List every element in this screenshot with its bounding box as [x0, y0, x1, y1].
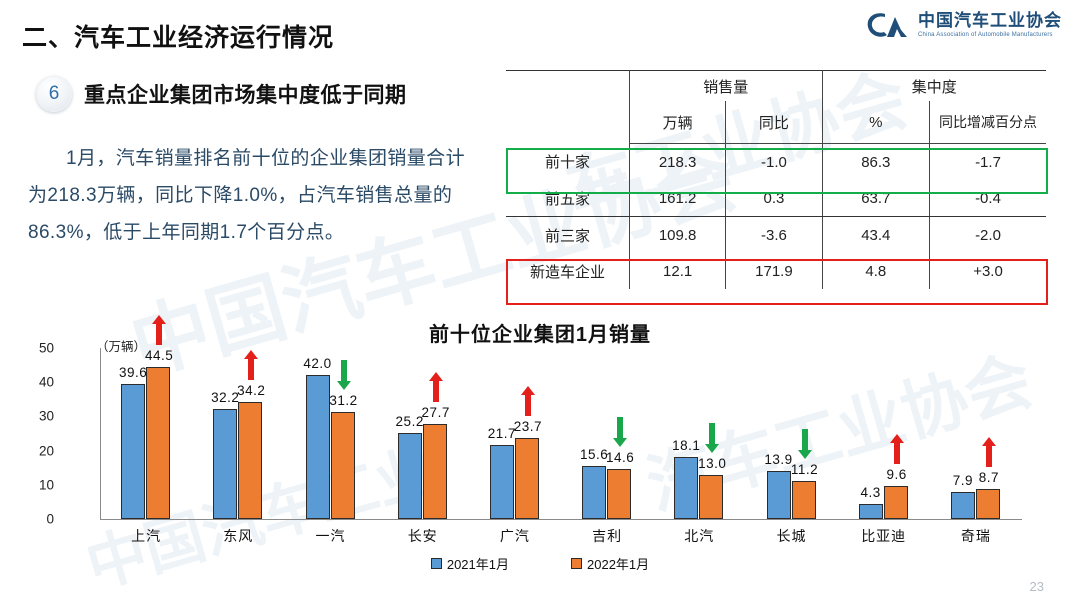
bar-value-label-2022: 23.7: [514, 419, 542, 434]
concentration-table: 销售量 集中度 万辆 同比 % 同比增减百分点 前十家 218.3 -1.0 8…: [506, 70, 1046, 289]
body-paragraph: 1月，汽车销量排名前十位的企业集团销量合计为218.3万辆，同比下降1.0%，占…: [28, 140, 480, 251]
cell-yoy: -3.6: [726, 217, 822, 254]
cell-share-pp: -0.4: [930, 180, 1047, 217]
cell-volume: 12.1: [629, 253, 725, 289]
cell-volume: 109.8: [629, 217, 725, 254]
chart-x-label: 吉利: [592, 526, 622, 546]
table-col-share-pp: 同比增减百分点: [930, 101, 1047, 144]
cell-share-pp: -1.7: [930, 144, 1047, 181]
cell-share-pp: -2.0: [930, 217, 1047, 254]
cell-share: 86.3: [822, 144, 929, 181]
arrow-up-icon: [429, 372, 443, 402]
chart-x-label: 比亚迪: [861, 526, 906, 546]
logo-title-en: China Association of Automobile Manufact…: [918, 32, 1062, 38]
chart-bar-group: [951, 348, 1000, 519]
logo-title-cn: 中国汽车工业协会: [918, 12, 1062, 30]
cell-yoy: 0.3: [726, 180, 822, 217]
caam-logo: 中国汽车工业协会 China Association of Automobile…: [865, 10, 1062, 40]
legend-item-2021: 2021年1月: [431, 554, 509, 573]
table-group-header-concentration: 集中度: [822, 71, 1046, 102]
arrow-up-icon: [521, 386, 535, 416]
cell-share: 4.8: [822, 253, 929, 289]
table-group-header-sales: 销售量: [629, 71, 822, 102]
bar-value-label-2022: 11.2: [791, 462, 818, 477]
bar-2021: [582, 466, 606, 519]
bar-value-label-2021: 4.3: [861, 485, 881, 500]
bar-value-label-2022: 9.6: [887, 467, 907, 482]
bar-value-label-2021: 18.1: [672, 438, 700, 453]
table-row: 前三家 109.8 -3.6 43.4 -2.0: [506, 217, 1046, 254]
bar-value-label-2022: 34.2: [237, 383, 265, 398]
cell-yoy: 171.9: [726, 253, 822, 289]
bar-2022: [238, 402, 262, 519]
legend-label: 2022年1月: [587, 554, 649, 573]
arrow-down-icon: [337, 360, 351, 390]
chart-x-label: 长安: [408, 526, 438, 546]
chart-legend: 2021年1月 2022年1月: [0, 554, 1080, 573]
page-title: 二、汽车工业经济运行情况: [22, 18, 334, 54]
chart-x-label: 东风: [223, 526, 253, 546]
bar-2022: [699, 475, 723, 519]
table-group-header-row: 销售量 集中度: [506, 71, 1046, 102]
table-header-corner: [506, 71, 629, 144]
arrow-up-icon: [890, 434, 904, 464]
bar-value-label-2021: 25.2: [396, 414, 424, 429]
bar-2021: [306, 375, 330, 519]
bar-2021: [767, 471, 791, 519]
bar-value-label-2021: 13.9: [764, 452, 792, 467]
bar-2021: [951, 492, 975, 519]
bar-2021: [398, 433, 422, 519]
arrow-up-icon: [152, 315, 166, 345]
arrow-down-icon: [798, 429, 812, 459]
bar-2021: [490, 445, 514, 519]
bar-value-label-2021: 15.6: [580, 447, 608, 462]
table-col-share: %: [822, 101, 929, 144]
bar-value-label-2022: 31.2: [329, 393, 357, 408]
bar-value-label-2021: 7.9: [953, 473, 973, 488]
caam-logo-icon: [865, 10, 909, 40]
chart-x-label: 上汽: [131, 526, 161, 546]
table-row: 前十家 218.3 -1.0 86.3 -1.7: [506, 144, 1046, 181]
bar-value-label-2022: 27.7: [422, 405, 450, 420]
arrow-down-icon: [705, 423, 719, 453]
bar-value-label-2022: 44.5: [145, 348, 173, 363]
table-row: 新造车企业 12.1 171.9 4.8 +3.0: [506, 253, 1046, 289]
bar-2022: [423, 424, 447, 519]
section-number-badge: 6: [36, 76, 72, 112]
cell-row-name: 前三家: [506, 217, 629, 254]
chart-x-label: 广汽: [500, 526, 530, 546]
bar-value-label-2021: 39.6: [119, 365, 147, 380]
page-number: 23: [1030, 579, 1044, 594]
table-col-yoy: 同比: [726, 101, 822, 144]
chart-plot-area: 39.644.5上汽32.234.2东风42.031.2一汽25.227.7长安…: [0, 312, 1080, 552]
bar-2022: [515, 438, 539, 519]
chart-x-label: 北汽: [684, 526, 714, 546]
bar-2022: [146, 367, 170, 519]
arrow-up-icon: [982, 437, 996, 467]
bar-value-label-2022: 14.6: [606, 450, 634, 465]
cell-volume: 218.3: [629, 144, 725, 181]
bar-value-label-2021: 21.7: [488, 426, 516, 441]
chart-x-label: 一汽: [316, 526, 346, 546]
bar-2021: [674, 457, 698, 519]
bar-2021: [121, 384, 145, 519]
cell-volume: 161.2: [629, 180, 725, 217]
bar-value-label-2021: 42.0: [303, 356, 331, 371]
section-heading-row: 6 重点企业集团市场集中度低于同期: [36, 76, 407, 112]
arrow-up-icon: [244, 350, 258, 380]
legend-item-2022: 2022年1月: [571, 554, 649, 573]
cell-share-pp: +3.0: [930, 253, 1047, 289]
bar-2022: [607, 469, 631, 519]
bar-value-label-2021: 32.2: [211, 390, 239, 405]
chart-x-label: 长城: [777, 526, 807, 546]
table-col-volume: 万辆: [629, 101, 725, 144]
arrow-down-icon: [613, 417, 627, 447]
legend-swatch-icon: [571, 558, 582, 569]
bar-2022: [792, 481, 816, 519]
bar-value-label-2022: 8.7: [979, 470, 999, 485]
bar-2022: [331, 412, 355, 519]
bar-2022: [884, 486, 908, 519]
bar-2021: [213, 409, 237, 519]
cell-row-name: 前五家: [506, 180, 629, 217]
cell-row-name: 前十家: [506, 144, 629, 181]
cell-yoy: -1.0: [726, 144, 822, 181]
sales-bar-chart: 前十位企业集团1月销量 （万辆） 01020304050 39.644.5上汽3…: [0, 312, 1080, 604]
bar-2021: [859, 504, 883, 519]
table-row: 前五家 161.2 0.3 63.7 -0.4: [506, 180, 1046, 217]
bar-2022: [976, 489, 1000, 519]
concentration-table-wrapper: 销售量 集中度 万辆 同比 % 同比增减百分点 前十家 218.3 -1.0 8…: [506, 70, 1046, 289]
bar-value-label-2022: 13.0: [698, 456, 726, 471]
cell-share: 63.7: [822, 180, 929, 217]
legend-label: 2021年1月: [447, 554, 509, 573]
legend-swatch-icon: [431, 558, 442, 569]
chart-x-label: 奇瑞: [961, 526, 991, 546]
section-heading: 重点企业集团市场集中度低于同期: [84, 79, 407, 109]
cell-share: 43.4: [822, 217, 929, 254]
cell-row-name: 新造车企业: [506, 253, 629, 289]
